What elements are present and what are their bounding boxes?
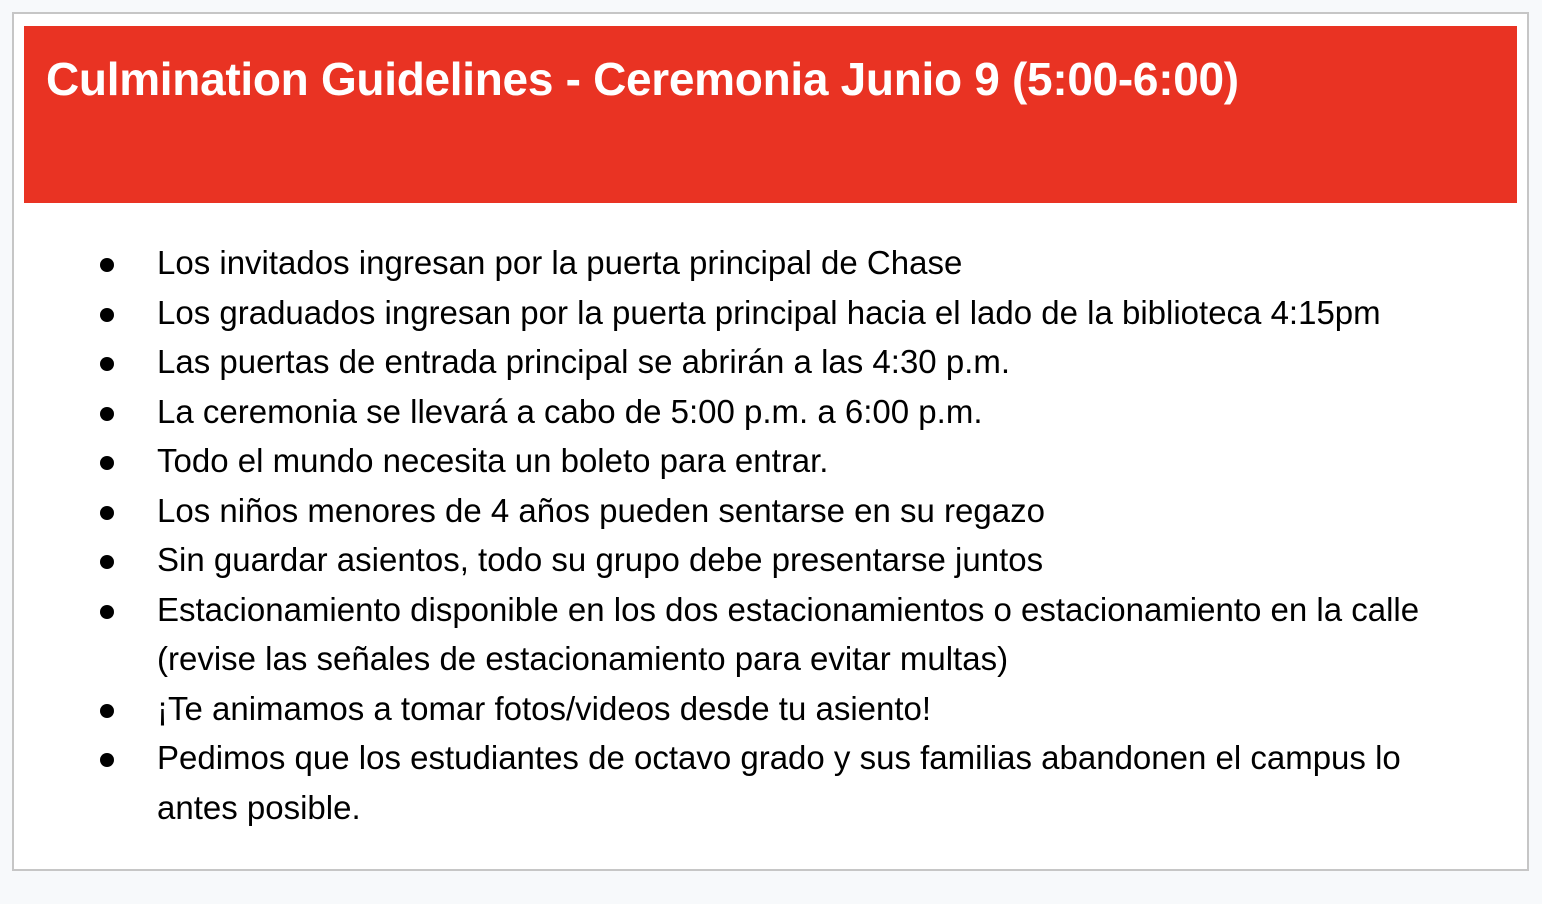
list-item: Estacionamiento disponible en los dos es… <box>14 585 1487 684</box>
list-item-label: ¡Te animamos a tomar fotos/videos desde … <box>157 684 1487 734</box>
list-item: Los invitados ingresan por la puerta pri… <box>14 238 1487 288</box>
page-title: Culmination Guidelines - Ceremonia Junio… <box>46 44 1495 114</box>
title-banner: Culmination Guidelines - Ceremonia Junio… <box>24 26 1517 203</box>
list-item: Las puertas de entrada principal se abri… <box>14 337 1487 387</box>
list-item-label: Los niños menores de 4 años pueden senta… <box>157 486 1487 536</box>
bullet-icon <box>100 456 114 470</box>
list-item-label: Los graduados ingresan por la puerta pri… <box>157 288 1487 338</box>
list-item-label: Los invitados ingresan por la puerta pri… <box>157 238 1487 288</box>
bullet-icon <box>100 753 114 767</box>
list-item-label: Sin guardar asientos, todo su grupo debe… <box>157 535 1487 585</box>
bullet-icon <box>100 704 114 718</box>
list-item: Todo el mundo necesita un boleto para en… <box>14 436 1487 486</box>
bullet-icon <box>100 258 114 272</box>
list-item-label: La ceremonia se llevará a cabo de 5:00 p… <box>157 387 1487 437</box>
guidelines-list: Los invitados ingresan por la puerta pri… <box>14 217 1527 832</box>
list-item: La ceremonia se llevará a cabo de 5:00 p… <box>14 387 1487 437</box>
list-item-label: Estacionamiento disponible en los dos es… <box>157 585 1487 684</box>
document-card: Culmination Guidelines - Ceremonia Junio… <box>12 12 1529 871</box>
list-item: Sin guardar asientos, todo su grupo debe… <box>14 535 1487 585</box>
list-item: Los graduados ingresan por la puerta pri… <box>14 288 1487 338</box>
list-item-label: Todo el mundo necesita un boleto para en… <box>157 436 1487 486</box>
list-item: ¡Te animamos a tomar fotos/videos desde … <box>14 684 1487 734</box>
list-item: Pedimos que los estudiantes de octavo gr… <box>14 733 1487 832</box>
bullet-icon <box>100 407 114 421</box>
bullet-icon <box>100 555 114 569</box>
list-item-label: Las puertas de entrada principal se abri… <box>157 337 1487 387</box>
bullet-icon <box>100 605 114 619</box>
list-item-label: Pedimos que los estudiantes de octavo gr… <box>157 733 1487 832</box>
bullet-icon <box>100 357 114 371</box>
list-item: Los niños menores de 4 años pueden senta… <box>14 486 1487 536</box>
bullet-icon <box>100 506 114 520</box>
bullet-icon <box>100 308 114 322</box>
